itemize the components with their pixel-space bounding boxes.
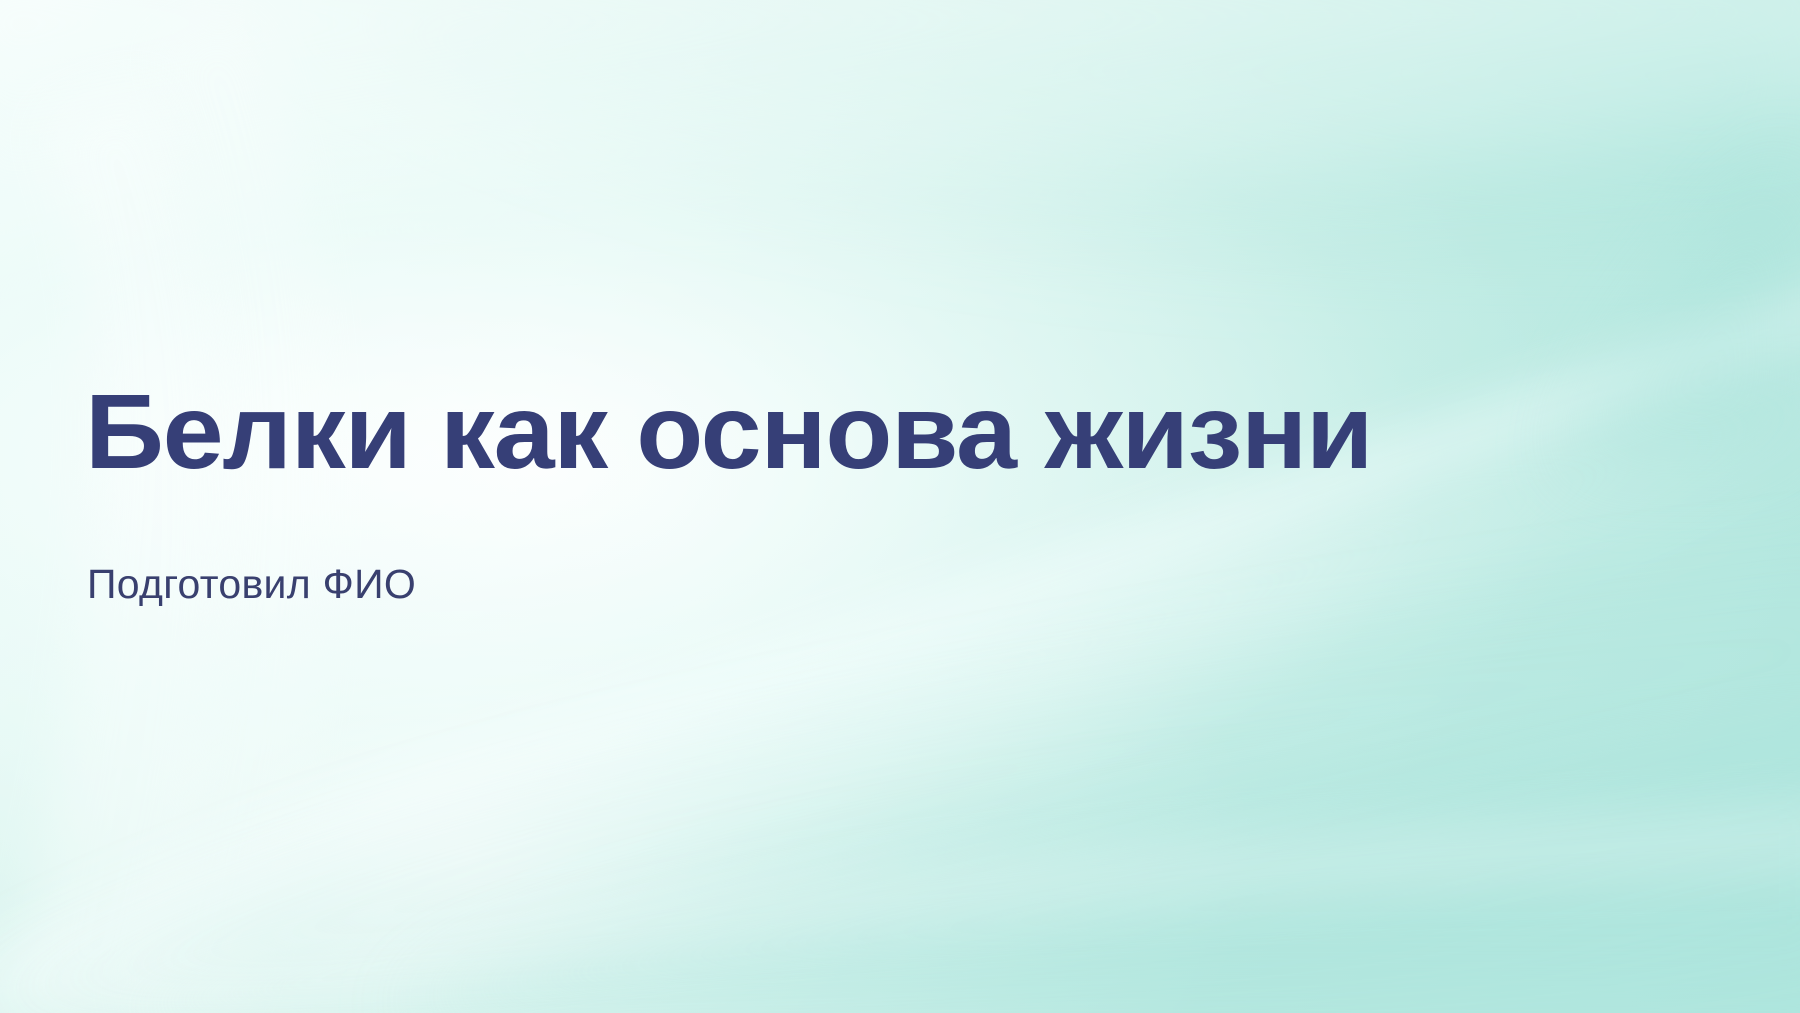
slide-subtitle-author: Подготовил ФИО xyxy=(87,560,416,609)
slide-title: Белки как основа жизни xyxy=(85,378,1372,486)
title-slide: Белки как основа жизни Подготовил ФИО xyxy=(0,0,1800,1013)
slide-content: Белки как основа жизни Подготовил ФИО xyxy=(85,0,1705,1013)
